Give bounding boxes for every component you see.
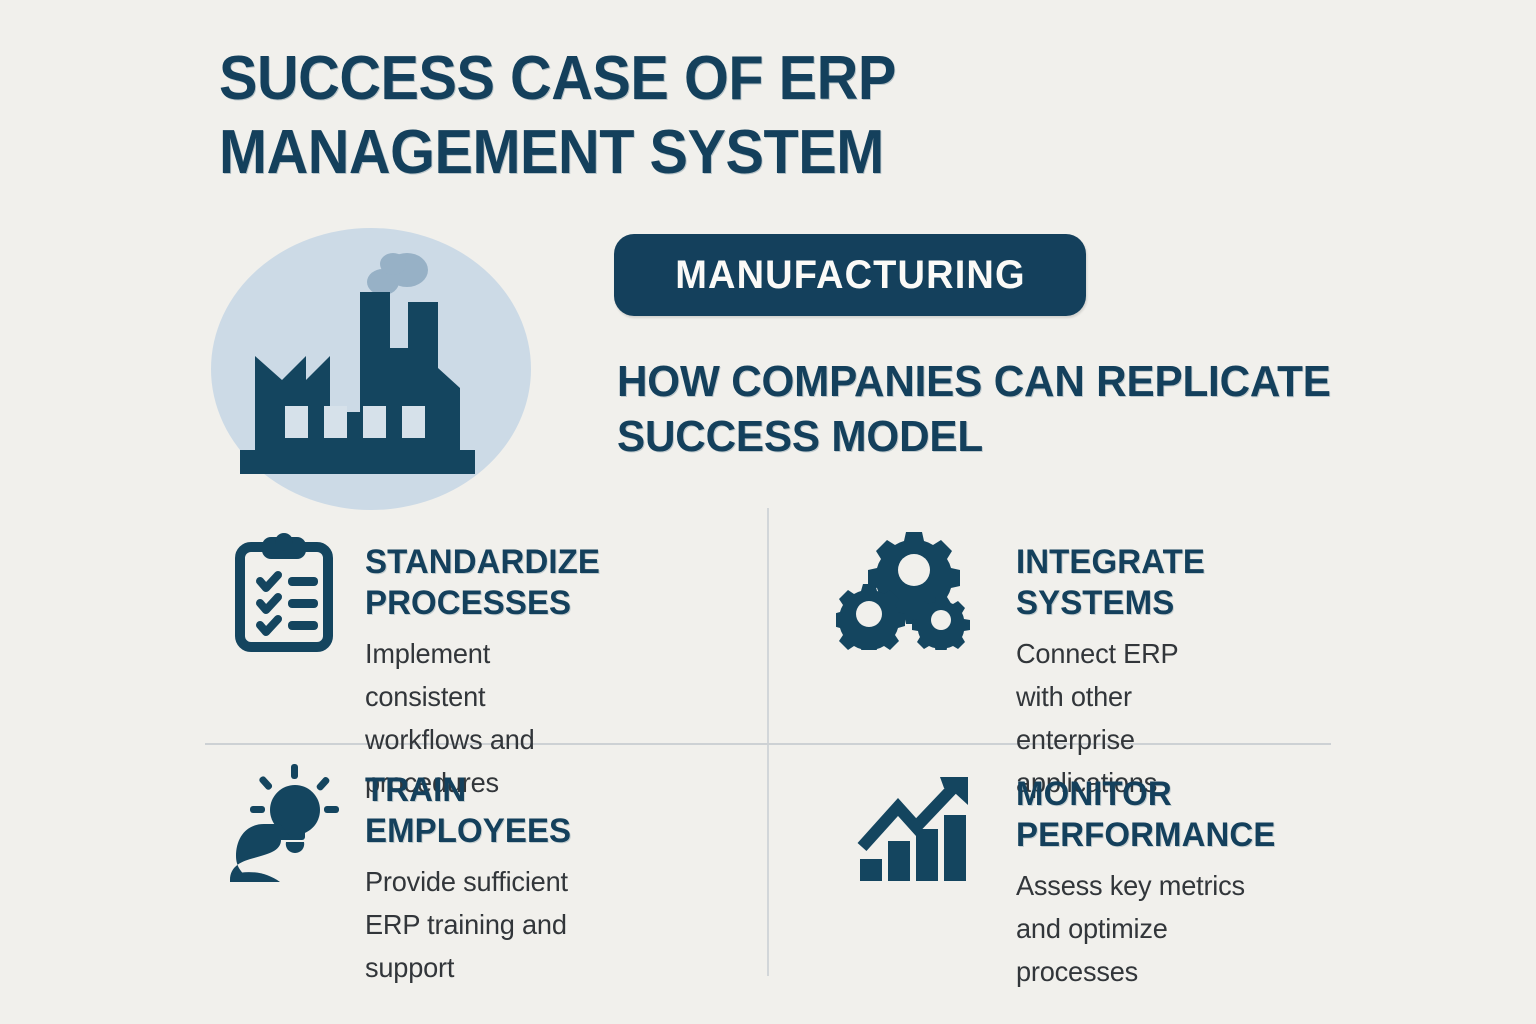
page-subtitle: HOW COMPANIES CAN REPLICATE SUCCESS MODE… bbox=[617, 354, 1385, 464]
quadrant-monitor-description: Assess key metrics and optimize processe… bbox=[1016, 864, 1275, 993]
quadrant-train-heading: TRAIN EMPLOYEES bbox=[365, 770, 571, 852]
vertical-divider bbox=[767, 508, 769, 976]
gears-icon bbox=[836, 530, 984, 655]
lightbulb-head-icon bbox=[228, 762, 348, 887]
factory-icon bbox=[207, 228, 535, 510]
clipboard-checklist-icon bbox=[232, 533, 337, 658]
quadrant-integrate-text: INTEGRATE SYSTEMS Connect ERP with other… bbox=[1016, 542, 1211, 804]
infographic-canvas: SUCCESS CASE OF ERP MANAGEMENT SYSTEM bbox=[0, 0, 1536, 1024]
category-badge-label: MANUFACTURING bbox=[675, 253, 1025, 298]
quadrant-monitor-heading: MONITOR PERFORMANCE bbox=[1016, 774, 1275, 856]
quadrant-standardize-heading: STANDARDIZE PROCESSES bbox=[365, 542, 600, 624]
quadrant-train-description: Provide sufficient ERP training and supp… bbox=[365, 860, 571, 989]
quadrant-integrate-heading: INTEGRATE SYSTEMS bbox=[1016, 542, 1205, 624]
category-badge[interactable]: MANUFACTURING bbox=[614, 234, 1086, 316]
quadrant-standardize-text: STANDARDIZE PROCESSES Implement consiste… bbox=[365, 542, 607, 804]
bar-chart-growth-icon bbox=[856, 775, 974, 890]
quadrant-train-text: TRAIN EMPLOYEES Provide sufficient ERP t… bbox=[365, 770, 578, 989]
quadrant-monitor-text: MONITOR PERFORMANCE Assess key metrics a… bbox=[1016, 774, 1283, 993]
page-title: SUCCESS CASE OF ERP MANAGEMENT SYSTEM bbox=[219, 42, 1261, 190]
